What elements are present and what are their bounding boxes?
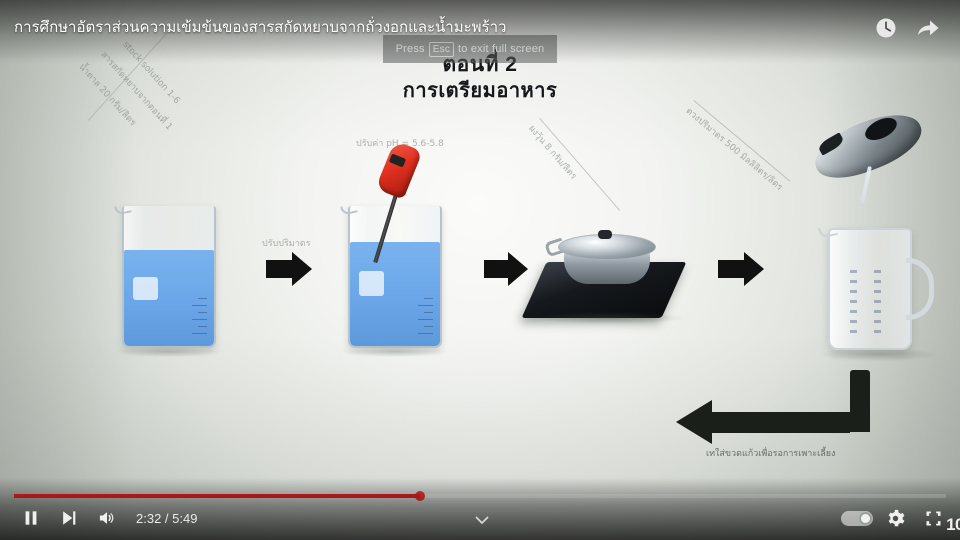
flow-arrow-return [676, 370, 870, 456]
video-player[interactable]: ตอนที่ 2 การเตรียมอาหาร stock solution 1… [0, 0, 960, 540]
autoplay-toggle-knob [859, 512, 872, 525]
induction-cooktop-with-pot [534, 228, 684, 328]
pitcher-shadow [820, 348, 938, 361]
player-controls-left: 2:32 / 5:49 [12, 500, 207, 536]
volume-on-icon[interactable] [88, 500, 126, 536]
clock-icon[interactable] [874, 16, 898, 40]
beaker-graduation-marks [411, 298, 433, 340]
cooktop-shadow [534, 312, 684, 324]
flow-arrow-1 [266, 260, 312, 278]
ph-meter-probe [372, 150, 442, 280]
beaker-shadow [342, 346, 447, 357]
ph-probe-rod [373, 187, 400, 263]
annotation-volume: ตวงปริมาตร 500 มิลลิลิตร/ลิตร [683, 104, 786, 194]
flow-arrow-3 [718, 260, 764, 278]
arrow-horizontal-segment [710, 412, 850, 433]
beaker-with-blue-solution [122, 206, 216, 348]
measuring-pitcher [828, 228, 940, 364]
player-controls-right [838, 500, 952, 536]
pot-pouring-into-pitcher [812, 122, 942, 212]
pot-lid-knob [598, 230, 612, 239]
flow-arrow-2 [484, 260, 528, 278]
annotation-stir-step: ปรับปริมาตร [262, 236, 310, 250]
pause-icon[interactable] [12, 500, 50, 536]
next-video-icon[interactable] [50, 500, 88, 536]
beaker-shadow [116, 346, 221, 357]
quality-badge: 10 [946, 515, 960, 535]
arrow-head-left [676, 400, 712, 444]
video-title: การศึกษาอัตราส่วนความเข้มข้นของสารสกัดหย… [14, 15, 506, 39]
autoplay-toggle[interactable] [838, 500, 876, 536]
leader-line-volume [693, 100, 790, 182]
pitcher-graduation-right [874, 270, 914, 340]
time-display: 2:32 / 5:49 [126, 511, 207, 526]
gear-icon[interactable] [876, 500, 914, 536]
share-arrow-icon[interactable] [916, 16, 940, 40]
annotation-agar: ผงวุ้น 8 กรัม/ลิตร [525, 122, 580, 182]
arrow-vertical-segment [850, 370, 870, 432]
chevron-down-icon[interactable] [470, 508, 494, 532]
leader-line-agar [539, 118, 620, 211]
ph-meter-body [375, 140, 422, 199]
video-frame: ตอนที่ 2 การเตรียมอาหาร stock solution 1… [0, 0, 960, 540]
beaker-graduation-marks [185, 298, 207, 340]
